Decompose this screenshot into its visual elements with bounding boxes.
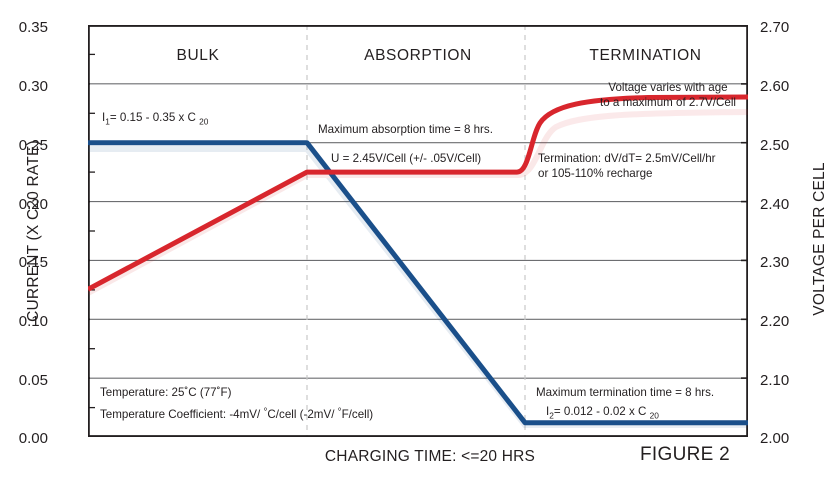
- y-right-tick-2.30: 2.30: [760, 254, 820, 271]
- y-right-tick-2.70: 2.70: [760, 19, 820, 36]
- y-right-tick-2.40: 2.40: [760, 196, 820, 213]
- annotation-max-termination-time: Maximum termination time = 8 hrs.: [536, 385, 714, 400]
- phase-label-termination: TERMINATION: [558, 47, 733, 65]
- y-left-tick-0.35: 0.35: [0, 19, 48, 36]
- y-left-tick-0.20: 0.20: [0, 196, 48, 213]
- annotation-voltage-varies-line1: Voltage varies with age: [568, 80, 768, 95]
- phase-dividers: [307, 25, 525, 437]
- temp-coeff-prefix: Temperature Coefficient: -4mV/: [100, 408, 263, 421]
- phase-label-bulk: BULK: [143, 47, 253, 65]
- y-left-tick-0.15: 0.15: [0, 254, 48, 271]
- temp-coeff-suffix: F/cell): [342, 408, 374, 421]
- y-right-tick-2.60: 2.60: [760, 78, 820, 95]
- annotation-absorption-voltage: U = 2.45V/Cell (+/- .05V/Cell): [331, 151, 481, 166]
- series-current-line: [88, 143, 748, 423]
- y-left-tick-0.25: 0.25: [0, 137, 48, 154]
- y-right-tick-2.50: 2.50: [760, 137, 820, 154]
- annotation-termination-line1: Termination: dV/dT= 2.5mV/Cell/hr: [538, 151, 716, 166]
- annotation-max-absorption-time: Maximum absorption time = 8 hrs.: [318, 122, 493, 137]
- y-right-tick-2.10: 2.10: [760, 372, 820, 389]
- annotation-bulk-current: I1= 0.15 - 0.35 x C 20: [102, 110, 208, 129]
- bulk-current-c20: 20: [199, 116, 208, 126]
- y-right-tick-2.20: 2.20: [760, 313, 820, 330]
- plot-area: BULK ABSORPTION TERMINATION I1= 0.15 - 0…: [88, 25, 748, 437]
- annotation-voltage-varies-line2: to a maximum of 2.7V/Cell: [568, 95, 768, 110]
- figure-chart: CURRENT (X C20 RATE) VOLTAGE PER CELL 0.…: [0, 0, 825, 483]
- temp-coeff-middle: C/cell (-2mV/: [267, 408, 337, 421]
- annotation-termination-line2: or 105-110% recharge: [538, 166, 653, 181]
- figure-caption: FIGURE 2: [640, 444, 730, 466]
- annotation-termination-current: I2= 0.012 - 0.02 x C 20: [546, 404, 659, 423]
- phase-label-absorption: ABSORPTION: [338, 47, 498, 65]
- y-left-tick-0.00: 0.00: [0, 430, 48, 447]
- y-left-tick-0.30: 0.30: [0, 78, 48, 95]
- bulk-current-formula: = 0.15 - 0.35 x C: [110, 111, 199, 124]
- y-left-tick-0.10: 0.10: [0, 313, 48, 330]
- termination-current-formula: = 0.012 - 0.02 x C: [554, 405, 650, 418]
- annotation-temperature-coefficient: Temperature Coefficient: -4mV/ °C/cell (…: [100, 405, 373, 422]
- termination-current-c20: 20: [650, 410, 659, 420]
- annotation-temperature: Temperature: 25˚C (77˚F): [100, 385, 231, 400]
- y-right-tick-2.00: 2.00: [760, 430, 820, 447]
- x-axis-title: CHARGING TIME: <=20 HRS: [230, 448, 630, 466]
- y-left-tick-0.05: 0.05: [0, 372, 48, 389]
